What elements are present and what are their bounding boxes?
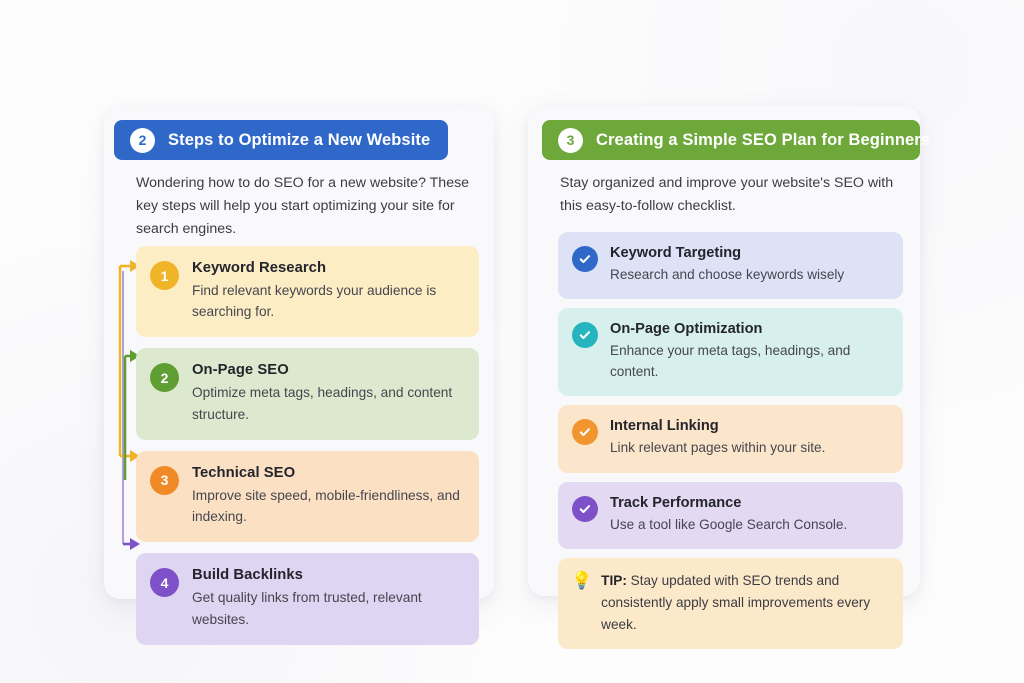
check-circle-icon	[572, 496, 598, 522]
checklist-title: Keyword Targeting	[610, 245, 844, 261]
check-circle-icon	[572, 322, 598, 348]
checklist-item[interactable]: Keyword Targeting Research and choose ke…	[558, 232, 903, 299]
left-card-intro-text: Wondering how to do SEO for a new websit…	[136, 172, 480, 241]
step-item[interactable]: 1 Keyword Research Find relevant keyword…	[136, 246, 479, 337]
step-title: On-Page SEO	[192, 362, 463, 378]
tip-text: TIP: Stay updated with SEO trends and co…	[601, 570, 889, 636]
checklist-item[interactable]: Track Performance Use a tool like Google…	[558, 482, 903, 549]
checklist-item[interactable]: On-Page Optimization Enhance your meta t…	[558, 308, 903, 396]
right-card-intro-text: Stay organized and improve your website'…	[560, 172, 900, 218]
checklist-title: Track Performance	[610, 495, 847, 511]
step-body: Keyword Research Find relevant keywords …	[192, 260, 463, 322]
checklist-body: Internal Linking Link relevant pages wit…	[610, 418, 825, 458]
check-circle-icon	[572, 246, 598, 272]
step-item[interactable]: 4 Build Backlinks Get quality links from…	[136, 553, 479, 644]
tip-box: 💡 TIP: Stay updated with SEO trends and …	[558, 558, 903, 649]
step-description: Get quality links from trusted, relevant…	[192, 587, 463, 629]
tip-body: Stay updated with SEO trends and consist…	[601, 573, 870, 632]
checklist-item[interactable]: Internal Linking Link relevant pages wit…	[558, 405, 903, 472]
step-item[interactable]: 3 Technical SEO Improve site speed, mobi…	[136, 451, 479, 542]
checklist-title: Internal Linking	[610, 418, 825, 434]
checklist-body: Track Performance Use a tool like Google…	[610, 495, 847, 535]
checklist-description: Use a tool like Google Search Console.	[610, 515, 847, 535]
left-card-number-badge: 2	[130, 128, 155, 153]
step-number-badge: 2	[150, 363, 179, 392]
checklist-title: On-Page Optimization	[610, 321, 889, 337]
left-card-title: Steps to Optimize a New Website	[168, 131, 430, 150]
step-body: On-Page SEO Optimize meta tags, headings…	[192, 362, 463, 424]
card-steps-to-optimize: 2 Steps to Optimize a New Website Wonder…	[104, 106, 494, 599]
right-card-number-badge: 3	[558, 128, 583, 153]
card-simple-seo-plan: 3 Creating a Simple SEO Plan for Beginne…	[528, 106, 920, 596]
step-item[interactable]: 2 On-Page SEO Optimize meta tags, headin…	[136, 348, 479, 439]
checklist-description: Link relevant pages within your site.	[610, 438, 825, 458]
check-circle-icon	[572, 419, 598, 445]
step-title: Technical SEO	[192, 465, 463, 481]
lightbulb-icon: 💡	[571, 570, 592, 593]
step-title: Build Backlinks	[192, 567, 463, 583]
page-canvas: 2 Steps to Optimize a New Website Wonder…	[0, 0, 1024, 683]
right-card-header: 3 Creating a Simple SEO Plan for Beginne…	[542, 120, 920, 160]
step-description: Improve site speed, mobile-friendliness,…	[192, 485, 463, 527]
step-number-badge: 3	[150, 466, 179, 495]
left-card-header: 2 Steps to Optimize a New Website	[114, 120, 448, 160]
step-description: Optimize meta tags, headings, and conten…	[192, 382, 463, 424]
step-description: Find relevant keywords your audience is …	[192, 280, 463, 322]
tip-label: TIP:	[601, 573, 627, 588]
step-number-badge: 1	[150, 261, 179, 290]
right-card-title: Creating a Simple SEO Plan for Beginners	[596, 131, 930, 150]
step-body: Technical SEO Improve site speed, mobile…	[192, 465, 463, 527]
checklist-body: On-Page Optimization Enhance your meta t…	[610, 321, 889, 382]
step-number-badge: 4	[150, 568, 179, 597]
steps-list: 1 Keyword Research Find relevant keyword…	[136, 246, 479, 645]
checklist: Keyword Targeting Research and choose ke…	[558, 232, 903, 649]
step-title: Keyword Research	[192, 260, 463, 276]
checklist-body: Keyword Targeting Research and choose ke…	[610, 245, 844, 285]
checklist-description: Research and choose keywords wisely	[610, 265, 844, 285]
checklist-description: Enhance your meta tags, headings, and co…	[610, 341, 889, 382]
step-body: Build Backlinks Get quality links from t…	[192, 567, 463, 629]
